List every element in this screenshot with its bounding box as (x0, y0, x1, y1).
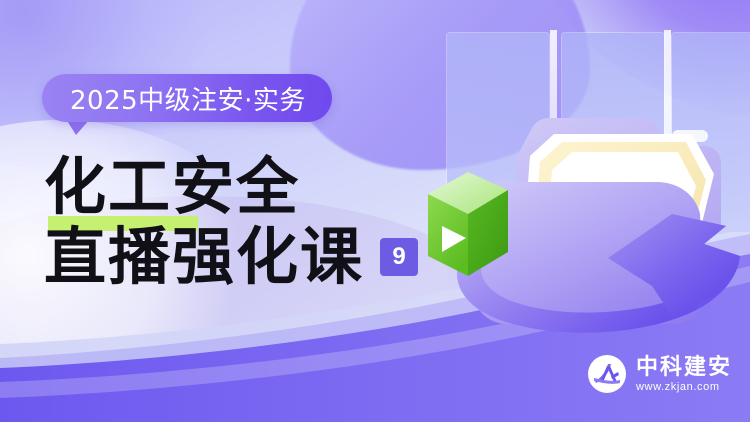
course-illustration (404, 86, 750, 346)
title-block: 化工安全 直播强化课 9 (44, 152, 418, 292)
brand-logo[interactable]: 中科建安 www.zkjan.com (587, 354, 732, 394)
episode-number-badge: 9 (380, 238, 418, 276)
brand-name: 中科建安 (636, 355, 732, 380)
zkjan-circle-logo (587, 354, 627, 394)
course-title-line-2: 直播强化课 (44, 222, 364, 292)
course-title-line-1: 化工安全 (44, 152, 418, 222)
brand-url: www.zkjan.com (636, 380, 732, 394)
course-banner: 2025中级注安·实务 化工安全 直播强化课 9 中科建安 www.zkjan.… (0, 0, 750, 422)
course-title-row-2: 直播强化课 9 (44, 222, 418, 292)
brand-text: 中科建安 www.zkjan.com (636, 355, 732, 394)
course-category-label: 2025中级注安·实务 (70, 80, 306, 117)
course-category-badge: 2025中级注安·实务 (42, 74, 332, 122)
